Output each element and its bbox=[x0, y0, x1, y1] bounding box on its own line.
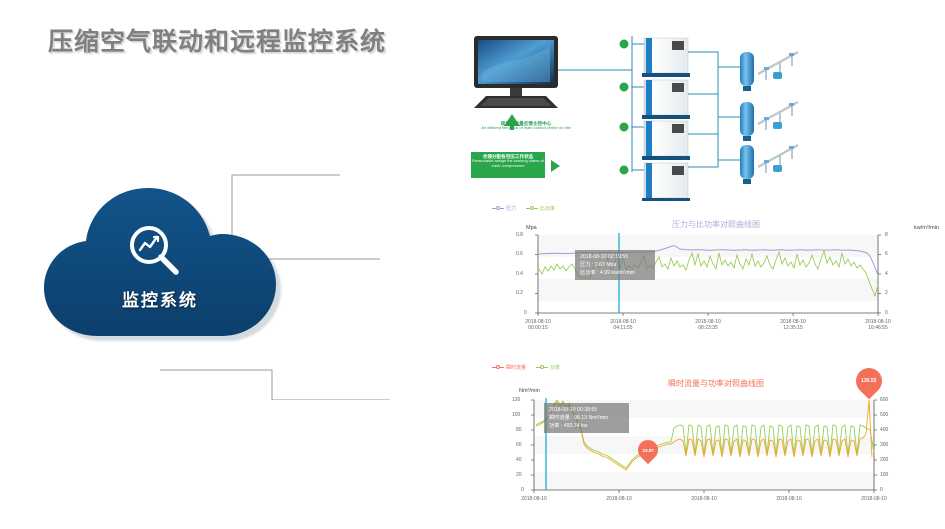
chart2-y2tick: 600 bbox=[880, 397, 888, 403]
chart1-y2tick: 8 bbox=[885, 232, 888, 238]
marker-value: 33.87 bbox=[642, 448, 654, 453]
chart2-ytick: 120 bbox=[512, 397, 520, 403]
xtick-date: 2018-08-10 bbox=[865, 319, 891, 325]
chart-magnifier-icon bbox=[124, 220, 186, 282]
xtick-time: 08:23:35 bbox=[698, 325, 717, 331]
chart1-tooltip: 2018-08-10 02:19:55 压力 : 0.63 Mpa 比功率 : … bbox=[575, 250, 655, 280]
compressor-unit bbox=[642, 163, 690, 201]
tooltip-timestamp: 2018-08-10 00:38:55 bbox=[549, 406, 624, 414]
chart2-ytick: 0 bbox=[521, 487, 524, 493]
chart2-y2tick: 100 bbox=[880, 472, 888, 478]
xtick-time: 16:46:55 bbox=[868, 325, 887, 331]
compressor-unit bbox=[642, 38, 690, 77]
xtick-date: 2018-08-10 bbox=[525, 319, 551, 325]
xtick-date: 2018-08-10 bbox=[695, 319, 721, 325]
monitoring-cloud[interactable]: 监控系统 bbox=[36, 186, 284, 338]
chart1-y2tick: 6 bbox=[885, 251, 888, 257]
chart1-y2tick: 0 bbox=[885, 310, 888, 316]
marker-value: 130.55 bbox=[861, 378, 876, 384]
chart2-xtick: 2018-08-10 bbox=[508, 496, 560, 502]
control-center-caption: 现场用气量反馈主控中心 Air delivery feedback of mai… bbox=[472, 121, 580, 131]
tooltip-row: 比功率 : 4.99 kw/m³/min bbox=[580, 269, 650, 277]
chart2-ytick: 60 bbox=[516, 442, 522, 448]
chart2-ytick: 80 bbox=[516, 427, 522, 433]
air-tank-and-pipeline bbox=[740, 145, 798, 184]
chart2-y2tick: 0 bbox=[880, 487, 883, 493]
chart1-ytick: 0 bbox=[524, 310, 527, 316]
chart1-xtick: 2018-08-10 00:00:15 bbox=[512, 319, 564, 332]
xtick-time: 12:35:15 bbox=[783, 325, 802, 331]
chart2-y2tick: 400 bbox=[880, 427, 888, 433]
chart1-ytick: 0.6 bbox=[516, 251, 523, 257]
working-state-callout: 合理分配各空压工作状态 Reasonable assign the workin… bbox=[471, 152, 545, 178]
chart2-xtick: 2018-08-10 bbox=[848, 496, 900, 502]
chart1-ytick: 0.2 bbox=[516, 290, 523, 296]
cloud-label: 监控系统 bbox=[36, 286, 284, 311]
chart2-xtick: 2018-08-10 bbox=[678, 496, 730, 502]
chart2-ytick: 100 bbox=[512, 412, 520, 418]
status-node-dots bbox=[620, 40, 629, 175]
pressure-power-chart[interactable]: 压力 比功率 压力与比功率对照曲线图 Mpa kw/m³/min bbox=[486, 203, 941, 328]
chart2-y2tick: 200 bbox=[880, 457, 888, 463]
control-center-caption-en: Air delivery feedback of main control ce… bbox=[472, 126, 580, 131]
tooltip-row: 压力 : 0.63 Mpa bbox=[580, 261, 650, 269]
chart2-y2tick: 300 bbox=[880, 442, 888, 448]
working-state-callout-en: Reasonable assign the working states of … bbox=[471, 159, 545, 168]
xtick-date: 2018-08-10 bbox=[610, 319, 636, 325]
tooltip-timestamp: 2018-08-10 02:19:55 bbox=[580, 253, 650, 261]
air-tank-and-pipeline bbox=[740, 52, 798, 91]
chart1-xtick: 2018-08-10 12:35:15 bbox=[767, 319, 819, 332]
chart1-y2tick: 2 bbox=[885, 290, 888, 296]
compressor-unit bbox=[642, 121, 690, 160]
chart1-ytick: 0.4 bbox=[516, 271, 523, 277]
chart1-ytick: 0.8 bbox=[516, 232, 523, 238]
xtick-date: 2018-08-10 bbox=[780, 319, 806, 325]
right-arrow-icon bbox=[551, 160, 560, 172]
xtick-time: 00:00:15 bbox=[528, 325, 547, 331]
chart2-y2tick: 500 bbox=[880, 412, 888, 418]
chart2-ytick: 20 bbox=[516, 472, 522, 478]
chart1-xtick: 2018-08-10 08:23:35 bbox=[682, 319, 734, 332]
control-center-monitor bbox=[474, 36, 558, 108]
slide-canvas: 压缩空气联动和远程监控系统 监控系统 bbox=[0, 0, 945, 529]
tooltip-row: 瞬时流量 : 98.13 Nm³/min bbox=[549, 414, 624, 422]
chart2-tooltip: 2018-08-10 00:38:55 瞬时流量 : 98.13 Nm³/min… bbox=[544, 403, 629, 433]
xtick-time: 04:11:55 bbox=[613, 325, 632, 331]
chart1-y2tick: 4 bbox=[885, 271, 888, 277]
page-title: 压缩空气联动和远程监控系统 bbox=[48, 22, 386, 58]
chart2-xtick: 2018-08-10 bbox=[763, 496, 815, 502]
chart1-xtick: 2018-08-10 04:11:55 bbox=[597, 319, 649, 332]
tooltip-row: 功率 : 493.74 kw bbox=[549, 422, 624, 430]
chart1-xtick: 2018-08-10 16:46:55 bbox=[852, 319, 904, 332]
chart2-ytick: 40 bbox=[516, 457, 522, 463]
air-tank-and-pipeline bbox=[740, 102, 798, 141]
flow-power-chart[interactable]: 瞬时流量 功率 瞬时流量与功率对照曲线图 Nm³/min bbox=[486, 362, 941, 522]
chart2-xtick: 2018-08-10 bbox=[593, 496, 645, 502]
chart1-plot bbox=[486, 203, 941, 328]
compressor-unit bbox=[642, 80, 690, 119]
